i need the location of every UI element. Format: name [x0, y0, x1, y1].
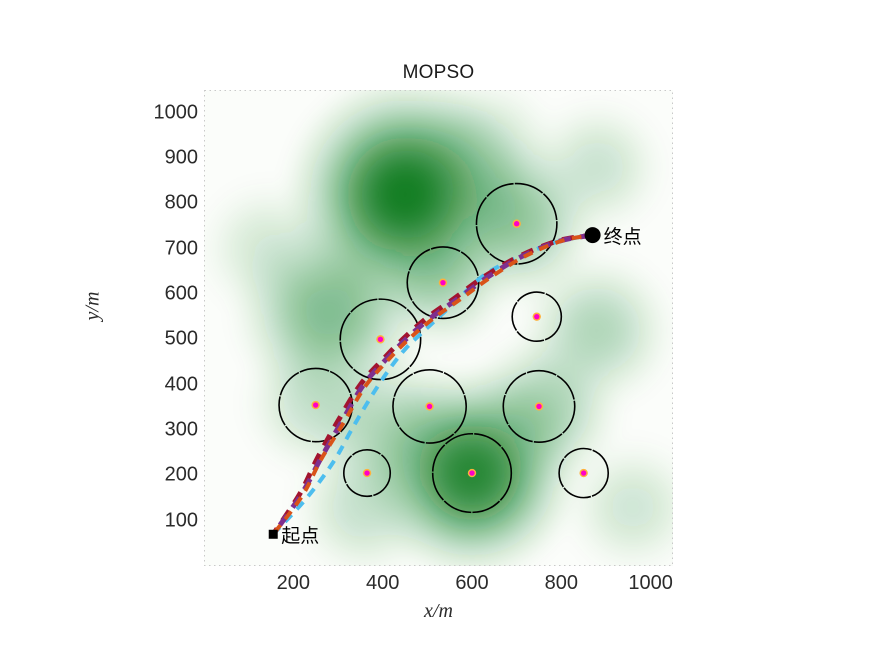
figure-canvas: MOPSO 1002003004005006007008009001000 20…: [0, 0, 875, 656]
y-tick-1000: 1000: [154, 101, 199, 124]
start-point-label: 起点: [281, 521, 319, 548]
y-tick-500: 500: [165, 328, 198, 351]
y-tick-200: 200: [165, 464, 198, 487]
page-title: MOPSO: [204, 62, 673, 84]
y-tick-700: 700: [165, 237, 198, 260]
y-axis-label: y/m: [82, 292, 105, 321]
x-tick-200: 200: [277, 572, 310, 595]
x-tick-400: 400: [366, 572, 399, 595]
end-point-label: 终点: [604, 222, 642, 249]
x-tick-1000: 1000: [628, 572, 673, 595]
x-tick-600: 600: [455, 572, 488, 595]
plot-area: [204, 90, 673, 566]
y-tick-100: 100: [165, 509, 198, 532]
axes-box: [204, 90, 673, 566]
x-axis-label: x/m: [204, 600, 673, 623]
y-tick-400: 400: [165, 373, 198, 396]
y-tick-900: 900: [165, 147, 198, 170]
y-tick-labels: 1002003004005006007008009001000: [140, 90, 198, 566]
x-tick-800: 800: [545, 572, 578, 595]
y-tick-300: 300: [165, 419, 198, 442]
y-tick-600: 600: [165, 283, 198, 306]
y-tick-800: 800: [165, 192, 198, 215]
